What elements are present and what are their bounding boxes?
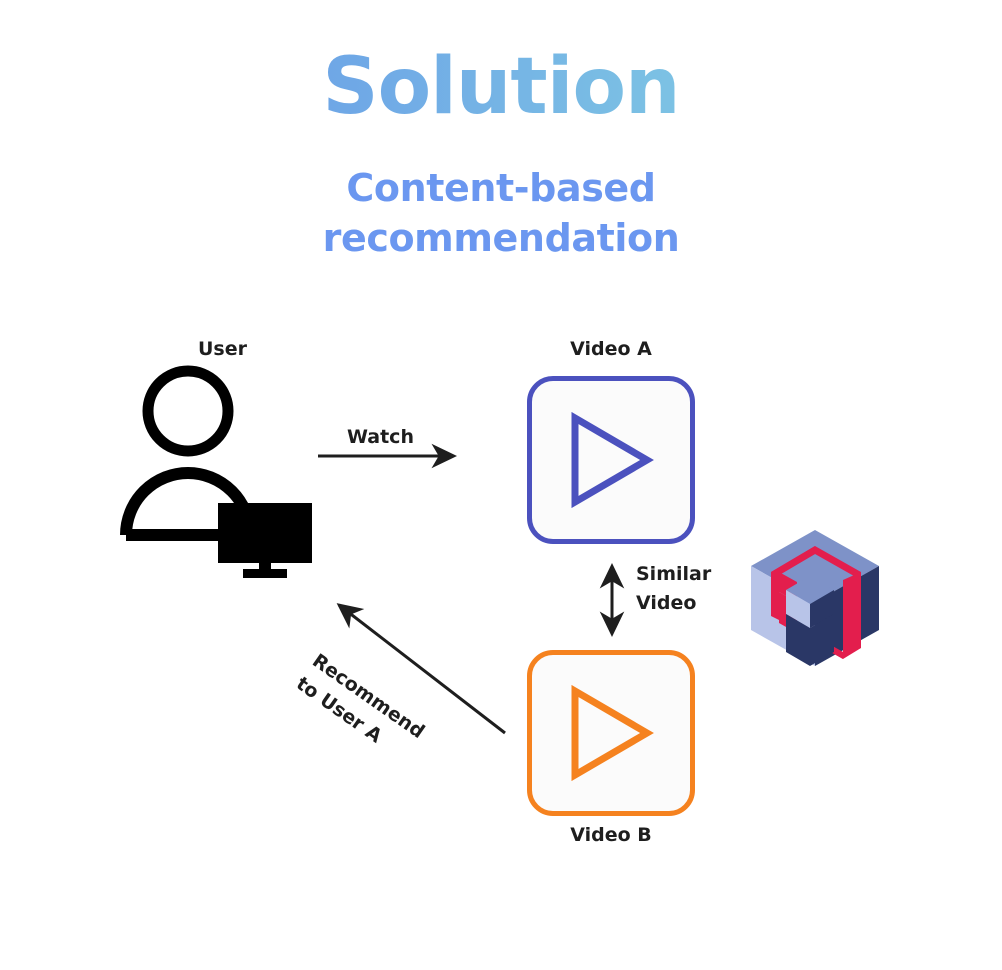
similar-video-edge-label: Similar Video: [636, 560, 726, 619]
video-a-label: Video A: [527, 338, 695, 360]
play-triangle-icon: [565, 412, 657, 508]
play-triangle-icon: [565, 685, 657, 781]
slide-canvas: Solution Content-based recommendation Us…: [0, 0, 1002, 970]
page-subtitle: Content-based recommendation: [0, 163, 1002, 263]
watch-arrow-icon: [312, 440, 472, 472]
subtitle-line-2: recommendation: [323, 216, 680, 260]
similar-label-line-1: Similar: [636, 563, 711, 585]
user-label: User: [120, 338, 325, 360]
isometric-cube-a-logo: [748, 528, 882, 668]
similar-label-line-2: Video: [636, 592, 696, 614]
subtitle-line-1: Content-based: [346, 166, 655, 210]
similar-video-double-arrow-icon: [596, 556, 628, 644]
video-a-card[interactable]: [527, 376, 695, 544]
video-b-card[interactable]: [527, 650, 695, 816]
user-with-monitor-icon: [120, 363, 325, 578]
page-title: Solution: [0, 48, 1002, 126]
video-b-label: Video B: [527, 824, 695, 846]
